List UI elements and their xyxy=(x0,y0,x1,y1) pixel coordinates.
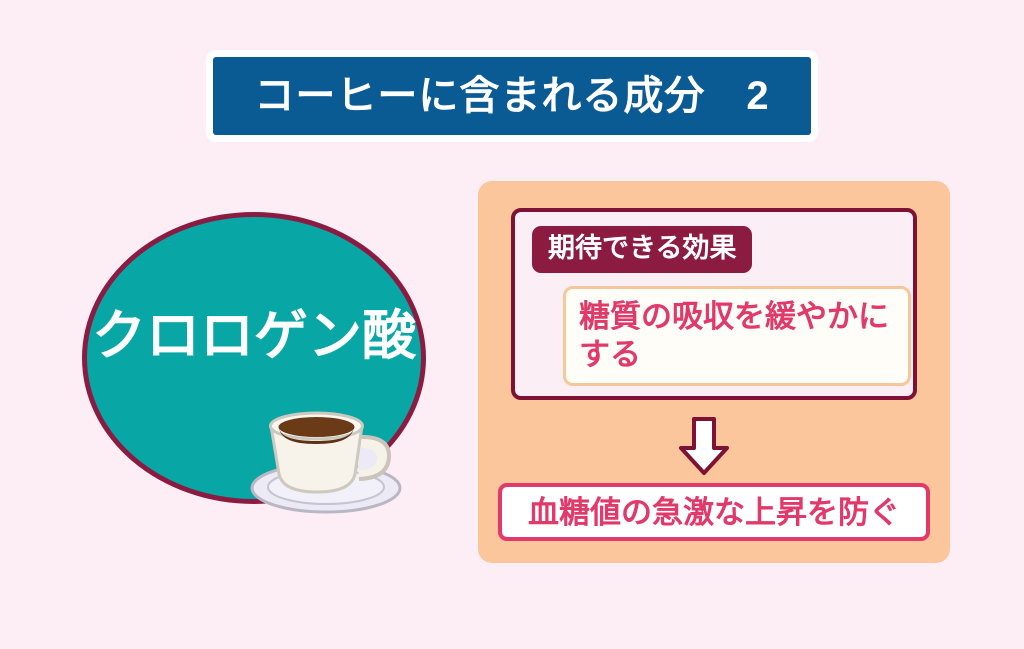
effect-statement-text: 糖質の吸収を緩やかにする xyxy=(566,298,908,374)
conclusion-box: 血糖値の急激な上昇を防ぐ xyxy=(498,483,930,541)
coffee-cup-icon xyxy=(243,400,413,515)
effect-panel: 期待できる効果 糖質の吸収を緩やかにする 血糖値の急激な上昇を防ぐ xyxy=(478,181,950,563)
page-title: コーヒーに含まれる成分 2 xyxy=(254,76,769,116)
slide-canvas: コーヒーに含まれる成分 2 クロロゲン酸 期待できる効果 xyxy=(0,0,1024,649)
arrow-down-icon xyxy=(674,416,734,476)
title-banner-frame: コーヒーに含まれる成分 2 xyxy=(206,50,818,142)
effect-statement-box: 糖質の吸収を緩やかにする xyxy=(563,286,911,386)
expected-effect-card: 期待できる効果 糖質の吸収を緩やかにする xyxy=(511,208,917,400)
conclusion-text: 血糖値の急激な上昇を防ぐ xyxy=(528,497,900,528)
expected-effect-chip: 期待できる効果 xyxy=(532,226,752,273)
ingredient-name: クロロゲン酸 xyxy=(82,308,426,365)
title-banner: コーヒーに含まれる成分 2 xyxy=(213,57,811,135)
